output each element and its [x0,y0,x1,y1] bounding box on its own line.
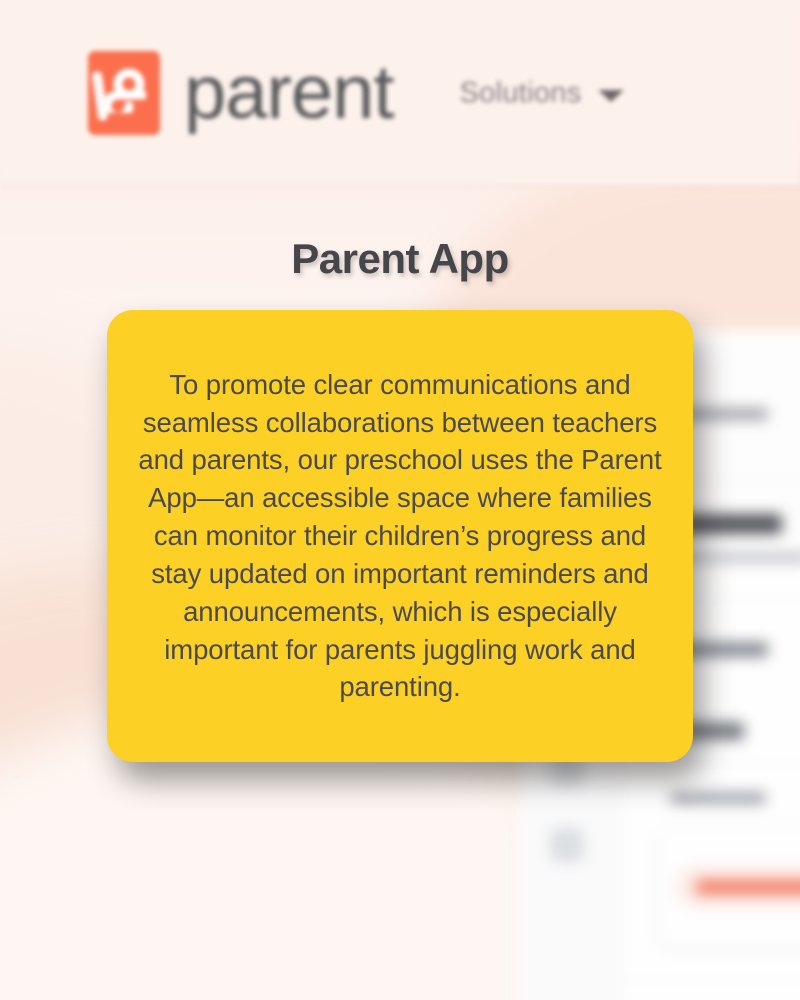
brand-logo[interactable]: parent [88,51,394,135]
report-icon [550,828,584,862]
eparent-logo-icon [88,51,160,135]
nav-item-label: Solutions [460,77,582,110]
parent-app-description-text: To promote clear communications and seam… [129,366,671,706]
page-title: Parent App [0,235,800,283]
preview-divider [620,762,800,763]
preview-divider [620,980,800,981]
logo-e-glyph [102,65,146,113]
preview-field-label [670,792,766,804]
header-divider [0,185,800,187]
nav-item-solutions[interactable]: Solutions [460,77,624,110]
parent-app-description-card: To promote clear communications and seam… [107,310,693,762]
brand-wordmark: parent [184,55,394,131]
chevron-down-icon [598,90,624,102]
site-header: parent Solutions [0,0,800,186]
page-root: parent Solutions Parent App To promote c… [0,0,800,1000]
preview-action-button-label [696,880,800,894]
